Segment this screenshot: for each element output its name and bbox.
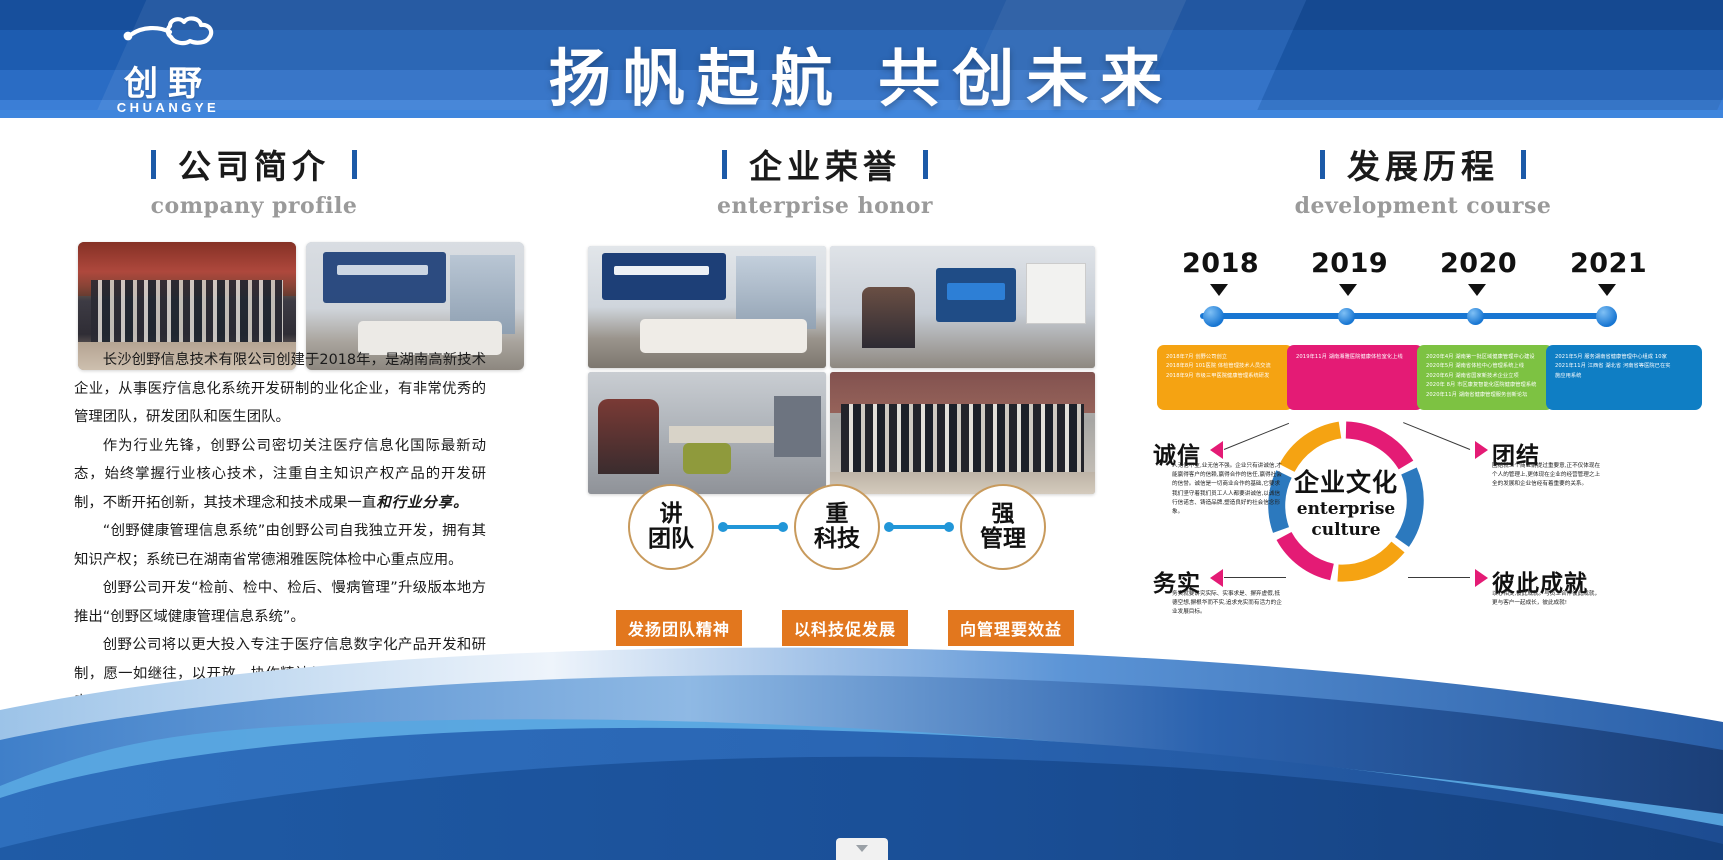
timeline-card-2019: 2019年11月 湖南湘雅医院健康体检室化上线 — [1287, 345, 1423, 410]
honor-connector-1 — [722, 525, 784, 529]
timeline-year-2018: 2018 — [1182, 248, 1259, 279]
arrow-left-icon — [1210, 441, 1223, 459]
section-title-profile-row: 公司简介 — [54, 140, 454, 188]
section-title-honor-row: 企业荣誉 — [625, 140, 1025, 188]
honor-circle-tech: 重科技 — [794, 484, 880, 570]
timeline-card-2018: 2018年7月 创野公司创立 2018年8月 101医院 体检管理技术人员交流 … — [1157, 345, 1293, 410]
profile-paragraph-3: “创野健康管理信息系统”由创野公司自我独立开发，拥有其知识产权；系统已在湖南省常… — [74, 517, 486, 574]
poster-title: 扬帆起航 共创未来 — [0, 28, 1723, 118]
culture-value-desc-integrity: 人无信不立,业无信不强。企业只有讲诚信,才能赢得客户的信赖,赢得合作的信任,赢得… — [1172, 462, 1284, 517]
section-title-profile: 公司简介 — [178, 140, 330, 188]
timeline-axis — [1200, 313, 1610, 319]
section-subtitle-honor: enterprise honor — [625, 193, 1025, 219]
section-title-honor: 企业荣誉 — [749, 140, 901, 188]
profile-emphasis: 和行业分享。 — [376, 494, 468, 511]
arrow-right-icon — [1475, 441, 1488, 459]
honor-connector-2 — [888, 525, 950, 529]
culture-leader-line-pragmatism — [1224, 577, 1286, 578]
honor-circle-team: 讲团队 — [628, 484, 714, 570]
card-nub-icon — [1476, 345, 1494, 346]
section-heading-honor: 企业荣誉 enterprise honor — [625, 140, 1025, 219]
culture-leader-line-mutual — [1408, 577, 1470, 578]
honor-photo-lobby — [588, 246, 826, 368]
timeline-marker-2020-icon — [1468, 284, 1486, 296]
arrow-right-icon — [1475, 569, 1488, 587]
section-subtitle-profile: company profile — [54, 193, 454, 219]
title-bar-right-icon — [923, 150, 928, 179]
timeline-marker-2018-icon — [1210, 284, 1228, 296]
culture-center-label: 企业文化 enterprise culture — [1262, 418, 1430, 586]
timeline-node-2018 — [1203, 306, 1224, 327]
honor-photo-award — [830, 372, 1095, 494]
honor-circle-management: 强管理 — [960, 484, 1046, 570]
title-bar-right-icon — [1521, 150, 1526, 179]
timeline-marker-2021-icon — [1598, 284, 1616, 296]
section-title-course: 发展历程 — [1347, 140, 1499, 188]
culture-value-desc-unity: 团结就三个商业前提过重要意,正不仅体现在个人的管理上,更体现在企业的经营管理之上… — [1492, 462, 1604, 490]
title-bar-left-icon — [1320, 150, 1325, 179]
title-bar-left-icon — [151, 150, 156, 179]
timeline-year-2020: 2020 — [1440, 248, 1517, 279]
title-bar-right-icon — [352, 150, 357, 179]
section-heading-course: 发展历程 development course — [1208, 140, 1638, 219]
culture-center-en1: enterprise — [1297, 499, 1396, 520]
card-nub-icon — [1216, 345, 1234, 346]
poster-header: 创野 CHUANGYE 扬帆起航 共创未来 — [0, 0, 1723, 118]
timeline-node-2021 — [1596, 306, 1617, 327]
culture-center-en2: culture — [1311, 520, 1380, 541]
timeline-card-2021: 2021年5月 服务湖南省健康管理中心组成 10家 2021年11月 江西省 湖… — [1546, 345, 1702, 410]
timeline-year-2019: 2019 — [1311, 248, 1388, 279]
section-heading-profile: 公司简介 company profile — [54, 140, 454, 219]
section-subtitle-course: development course — [1208, 193, 1638, 219]
timeline-node-2020 — [1467, 308, 1484, 325]
timeline-marker-2019-icon — [1339, 284, 1357, 296]
timeline-node-2019 — [1338, 308, 1355, 325]
title-bar-left-icon — [722, 150, 727, 179]
timeline-year-2021: 2021 — [1570, 248, 1647, 279]
card-nub-icon — [1615, 345, 1633, 346]
timeline-card-2020: 2020年4月 湖南第一批区域健康管理中心建设 2020年5月 湖南省体检中心管… — [1417, 345, 1553, 410]
arrow-left-icon — [1210, 569, 1223, 587]
honor-photo-presentation — [830, 246, 1095, 368]
bottom-wave-decoration — [0, 600, 1723, 860]
card-nub-icon — [1346, 345, 1364, 346]
scroll-down-tab[interactable] — [836, 838, 888, 860]
honor-photo-workspace — [588, 372, 826, 494]
culture-wall-poster: 创野 CHUANGYE 扬帆起航 共创未来 公司简介 company profi… — [0, 0, 1723, 860]
culture-center-cn: 企业文化 — [1294, 463, 1398, 499]
profile-paragraph-2: 作为行业先锋，创野公司密切关注医疗信息化国际最新动态，始终掌握行业核心技术，注重… — [74, 432, 486, 518]
profile-paragraph-1: 长沙创野信息技术有限公司创建于2018年，是湖南高新技术企业，从事医疗信息化系统… — [74, 346, 486, 432]
section-title-course-row: 发展历程 — [1208, 140, 1638, 188]
